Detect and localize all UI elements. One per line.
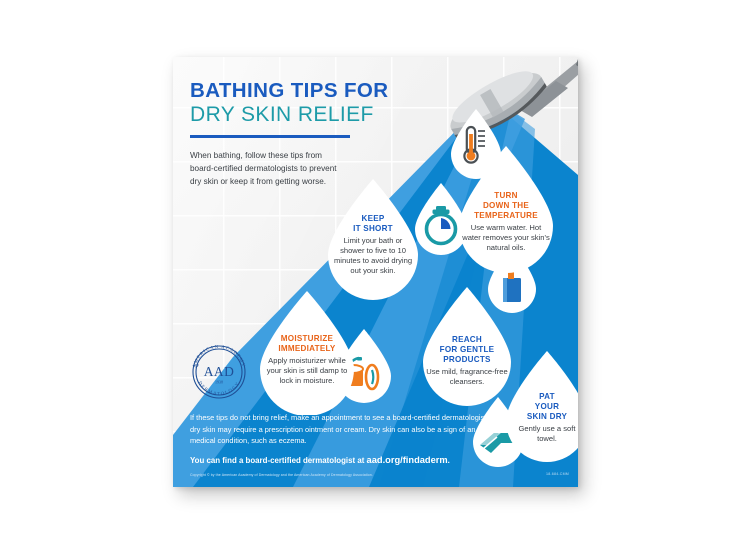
cta-suffix: . bbox=[448, 456, 450, 465]
tip-title: PAT YOUR SKIN DRY bbox=[527, 392, 567, 421]
tip-keep-it-short: KEEP IT SHORT Limit your bath or shower … bbox=[325, 177, 421, 301]
cta-prefix: You can find a board-certified dermatolo… bbox=[190, 456, 367, 465]
findaderm-link[interactable]: aad.org/findaderm bbox=[367, 455, 448, 465]
tip-body: Use warm water. Hot water removes your s… bbox=[462, 223, 550, 253]
tip-pat-your-skin-dry: PAT YOUR SKIN DRY Gently use a soft towe… bbox=[503, 349, 578, 463]
tip-body: Use mild, fragrance-free cleansers. bbox=[426, 367, 508, 387]
tip-body: Apply moisturizer while your skin is sti… bbox=[263, 356, 351, 386]
title-line-1: BATHING TIPS FOR bbox=[190, 80, 430, 102]
footer-cta: You can find a board-certified dermatolo… bbox=[190, 455, 512, 465]
tip-moisturize-immediately: MOISTURIZE IMMEDIATELY Apply moisturizer… bbox=[257, 289, 357, 415]
document-code: 18-684-CMM bbox=[546, 472, 569, 476]
logo-year: 1938 bbox=[215, 380, 223, 385]
footer-paragraph: If these tips do not bring relief, make … bbox=[190, 412, 512, 447]
tip-title: REACH FOR GENTLE PRODUCTS bbox=[440, 335, 495, 364]
infographic-poster: BATHING TIPS FOR DRY SKIN RELIEF When ba… bbox=[173, 57, 578, 487]
tip-body: Limit your bath or shower to five to 10 … bbox=[331, 236, 415, 276]
tip-title: KEEP IT SHORT bbox=[353, 214, 393, 233]
tip-body: Gently use a soft towel. bbox=[509, 424, 578, 444]
title-line-2: DRY SKIN RELIEF bbox=[190, 104, 430, 126]
poster-footer: If these tips do not bring relief, make … bbox=[190, 412, 512, 465]
copyright-line: Copyright © by the American Academy of D… bbox=[190, 473, 373, 477]
tip-title: TURN DOWN THE TEMPERATURE bbox=[474, 191, 538, 220]
title-divider bbox=[190, 135, 350, 138]
tip-title: MOISTURIZE IMMEDIATELY bbox=[278, 334, 335, 353]
intro-paragraph: When bathing, follow these tips from boa… bbox=[190, 149, 340, 189]
logo-arc-of: OF bbox=[195, 364, 200, 368]
poster-heading: BATHING TIPS FOR DRY SKIN RELIEF When ba… bbox=[190, 80, 430, 188]
tip-turn-down-the-temperature: TURN DOWN THE TEMPERATURE Use warm water… bbox=[456, 144, 556, 274]
tip-reach-for-gentle-products: REACH FOR GENTLE PRODUCTS Use mild, frag… bbox=[420, 285, 514, 407]
logo-monogram: AAD bbox=[204, 364, 234, 379]
aad-logo: AMERICAN ACADEMY DERMATOLOGY AAD 1938 OF bbox=[186, 339, 252, 405]
